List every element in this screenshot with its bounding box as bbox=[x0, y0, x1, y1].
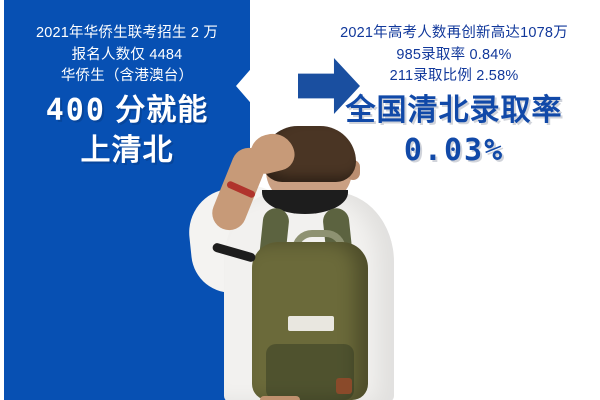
student-leg bbox=[260, 396, 300, 400]
left-line-3: 华侨生（含港澳台） bbox=[4, 67, 250, 86]
infographic-poster: 2021年华侨生联考招生 2 万 报名人数仅 4484 华侨生（含港澳台） 40… bbox=[0, 0, 600, 400]
student-photo bbox=[196, 130, 436, 400]
right-headline: 全国清北录取率 bbox=[312, 92, 596, 130]
right-line-2: 985录取率 0.84% bbox=[312, 46, 596, 65]
backpack-label bbox=[288, 316, 334, 331]
left-headline-number: 400 bbox=[46, 93, 106, 128]
left-headline-rest: 分就能 bbox=[115, 94, 208, 127]
left-line-1: 2021年华侨生联考招生 2 万 bbox=[4, 24, 250, 43]
right-line-1: 2021年高考人数再创新高达1078万 bbox=[312, 24, 596, 43]
left-line-2: 报名人数仅 4484 bbox=[4, 46, 250, 65]
left-headline: 400 分就能 bbox=[4, 92, 250, 130]
backpack-tag bbox=[336, 378, 352, 394]
